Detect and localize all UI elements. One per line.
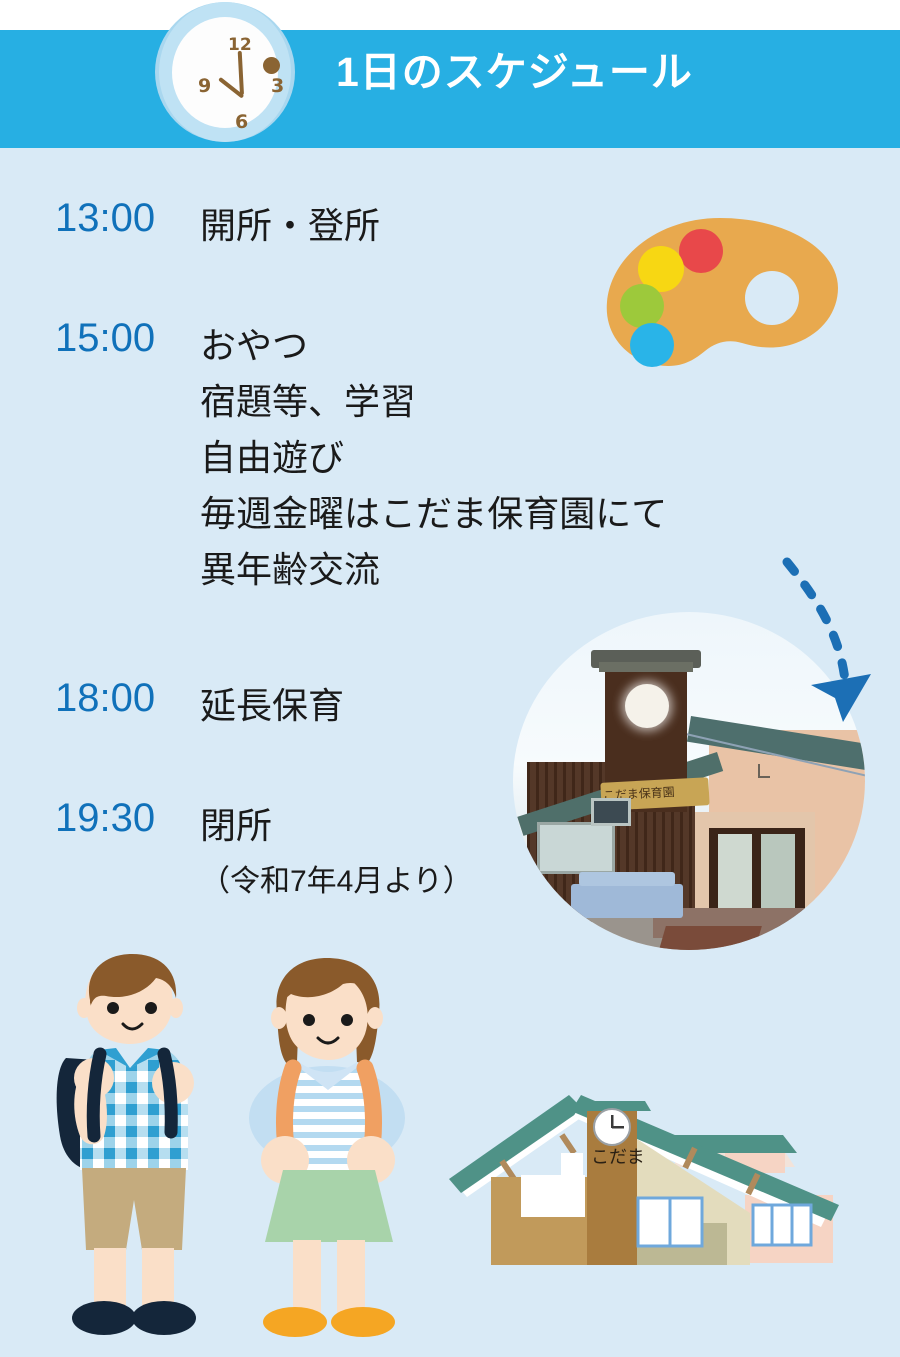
activity-line: 毎週金曜はこだま保育園にて bbox=[200, 486, 667, 542]
schedule-activities: おやつ 宿題等、学習 自由遊び 毎週金曜はこだま保育園にて 異年齢交流 bbox=[200, 318, 667, 598]
activity-line: 延長保育 bbox=[200, 678, 344, 734]
photo-window-upper bbox=[591, 798, 631, 826]
schedule-time: 18:00 bbox=[0, 678, 200, 734]
dashed-curved-arrow bbox=[775, 552, 895, 737]
activity-line: おやつ bbox=[200, 318, 667, 374]
schedule-row-1800: 18:00 延長保育 bbox=[0, 678, 344, 734]
activity-note: （令和7年4月より） bbox=[200, 854, 473, 910]
schedule-page: 12 3 6 9 1日のスケジュール 13:00 開所・登所 15:00 bbox=[0, 0, 900, 1357]
photo-stacked-bags-top bbox=[579, 872, 675, 886]
clock-number-3: 3 bbox=[271, 75, 284, 97]
activity-line: 自由遊び bbox=[200, 430, 667, 486]
photo-clock-hand-hour bbox=[758, 776, 770, 778]
activity-line: 異年齢交流 bbox=[200, 542, 667, 598]
schedule-row-1930: 19:30 閉所 （令和7年4月より） bbox=[0, 798, 473, 910]
clock-number-9: 9 bbox=[198, 75, 211, 97]
page-title: 1日のスケジュール bbox=[336, 52, 693, 93]
activity-line: 閉所 bbox=[200, 798, 473, 854]
schedule-activities: 開所・登所 bbox=[200, 198, 380, 254]
kodama-house-illustration: こだま bbox=[445, 1095, 845, 1345]
girl-with-backpack-illustration bbox=[235, 950, 420, 1340]
schedule-row-1300: 13:00 開所・登所 bbox=[0, 198, 380, 254]
photo-stacked-bags bbox=[571, 884, 683, 918]
photo-window-left bbox=[537, 822, 615, 874]
photo-ramp bbox=[656, 926, 762, 950]
photo-tower-clock bbox=[625, 684, 669, 728]
schedule-time: 13:00 bbox=[0, 198, 200, 254]
schedule-activities: 閉所 （令和7年4月より） bbox=[200, 798, 473, 910]
photo-tower-roof-lower bbox=[599, 662, 693, 672]
clock-hand-knob bbox=[263, 57, 280, 74]
activity-line: 開所・登所 bbox=[200, 198, 380, 254]
schedule-row-1500: 15:00 おやつ 宿題等、学習 自由遊び 毎週金曜はこだま保育園にて 異年齢交… bbox=[0, 318, 667, 598]
schedule-time: 19:30 bbox=[0, 798, 200, 910]
schedule-time: 15:00 bbox=[0, 318, 200, 598]
clock-face: 12 3 6 9 bbox=[172, 17, 278, 128]
house-sign-text: こだま bbox=[591, 1147, 645, 1168]
clock-number-6: 6 bbox=[235, 111, 248, 133]
activity-line: 宿題等、学習 bbox=[200, 374, 667, 430]
clock-minute-hand bbox=[238, 51, 244, 95]
schedule-activities: 延長保育 bbox=[200, 678, 344, 734]
boy-with-backpack-illustration bbox=[38, 950, 228, 1340]
clock-icon: 12 3 6 9 bbox=[155, 2, 295, 142]
